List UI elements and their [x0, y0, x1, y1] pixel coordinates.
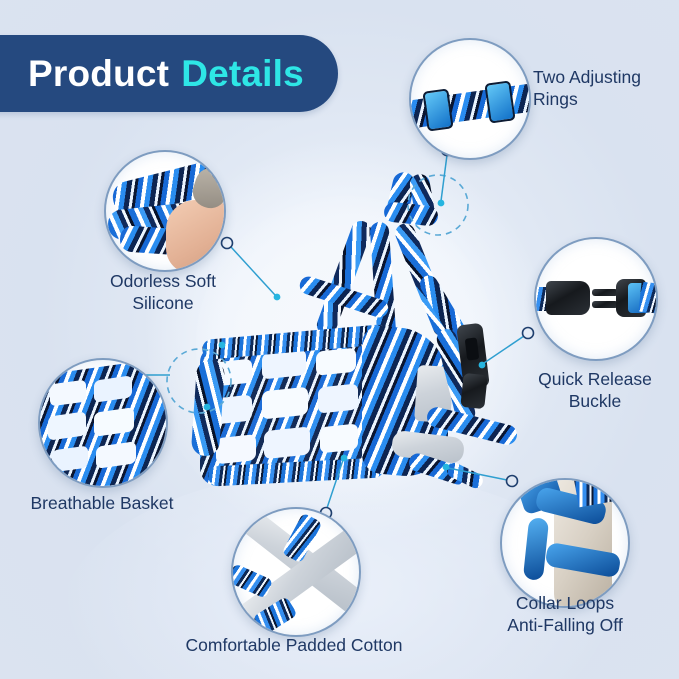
- page-title-banner: ProductDetails: [0, 35, 338, 112]
- page-title: ProductDetails: [28, 53, 304, 95]
- product-image-dog-muzzle: [178, 178, 508, 478]
- callout-label-quick-release-buckle: Quick Release Buckle: [520, 368, 670, 413]
- callout-image-breathable-basket: [38, 358, 168, 488]
- page-title-word-details: Details: [181, 53, 304, 94]
- callout-label-two-adjusting-rings: Two Adjusting Rings: [533, 66, 673, 111]
- callout-label-comfortable-padded-cotton: Comfortable Padded Cotton: [174, 634, 414, 656]
- callout-label-odorless-soft-silicone: Odorless Soft Silicone: [92, 270, 234, 315]
- callout-label-breathable-basket: Breathable Basket: [16, 492, 188, 514]
- callout-label-collar-loops-anti-falling-off: Collar Loops Anti-Falling Off: [490, 592, 640, 637]
- page-title-word-product: Product: [28, 53, 169, 94]
- callout-image-odorless-soft-silicone: [104, 150, 226, 272]
- infographic-canvas: ProductDetails: [0, 0, 679, 679]
- callout-image-comfortable-padded-cotton: [231, 507, 361, 637]
- leader-endpoint-buckle: [523, 328, 534, 339]
- callout-image-collar-loops-anti-falling-off: [500, 478, 630, 608]
- callout-image-quick-release-buckle: [534, 237, 658, 361]
- callout-image-two-adjusting-rings: [409, 38, 531, 160]
